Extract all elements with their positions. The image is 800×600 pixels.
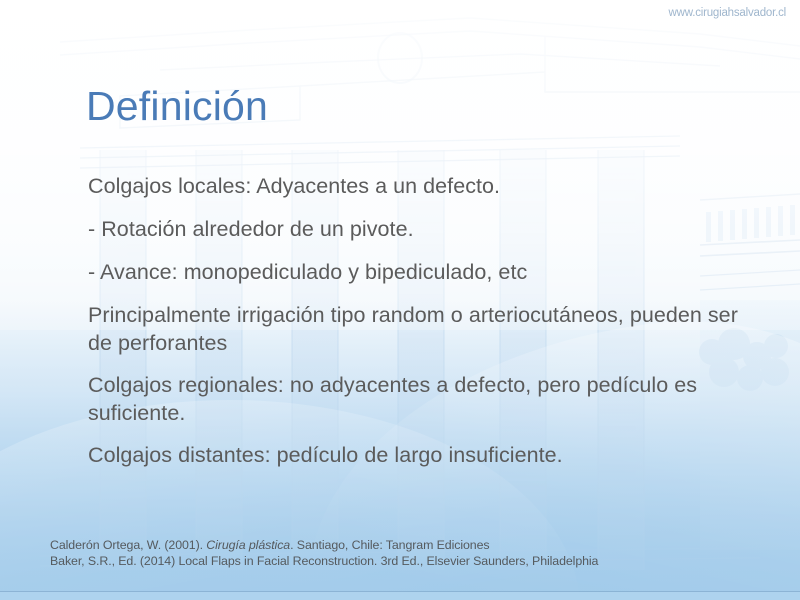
body-paragraph-2: - Rotación alrededor de un pivote.: [88, 215, 738, 243]
site-url-label: www.cirugiahsalvador.cl: [669, 7, 786, 19]
body-paragraph-5: Colgajos regionales: no adyacentes a def…: [88, 371, 738, 427]
reference-1-title: Cirugía plástica: [206, 538, 290, 552]
references-block: Calderón Ortega, W. (2001). Cirugía plás…: [50, 537, 770, 569]
body-paragraph-3: - Avance: monopediculado y bipediculado,…: [88, 258, 738, 286]
body-text-block: Colgajos locales: Adyacentes a un defect…: [88, 172, 738, 485]
body-paragraph-6: Colgajos distantes: pedículo de largo in…: [88, 441, 738, 469]
page-title: Definición: [86, 83, 268, 130]
bottom-strip: [0, 592, 800, 600]
reference-1-suffix: . Santiago, Chile: Tangram Ediciones: [290, 538, 489, 552]
reference-2-text: Baker, S.R., Ed. (2014) Local Flaps in F…: [50, 554, 598, 568]
reference-line-2: Baker, S.R., Ed. (2014) Local Flaps in F…: [50, 553, 770, 569]
body-paragraph-1: Colgajos locales: Adyacentes a un defect…: [88, 172, 738, 200]
reference-line-1: Calderón Ortega, W. (2001). Cirugía plás…: [50, 537, 770, 553]
bottom-divider-line: [0, 591, 800, 592]
reference-1-prefix: Calderón Ortega, W. (2001).: [50, 538, 206, 552]
presentation-slide: www.cirugiahsalvador.cl Definición Colga…: [0, 0, 800, 600]
body-paragraph-4: Principalmente irrigación tipo random o …: [88, 301, 738, 357]
